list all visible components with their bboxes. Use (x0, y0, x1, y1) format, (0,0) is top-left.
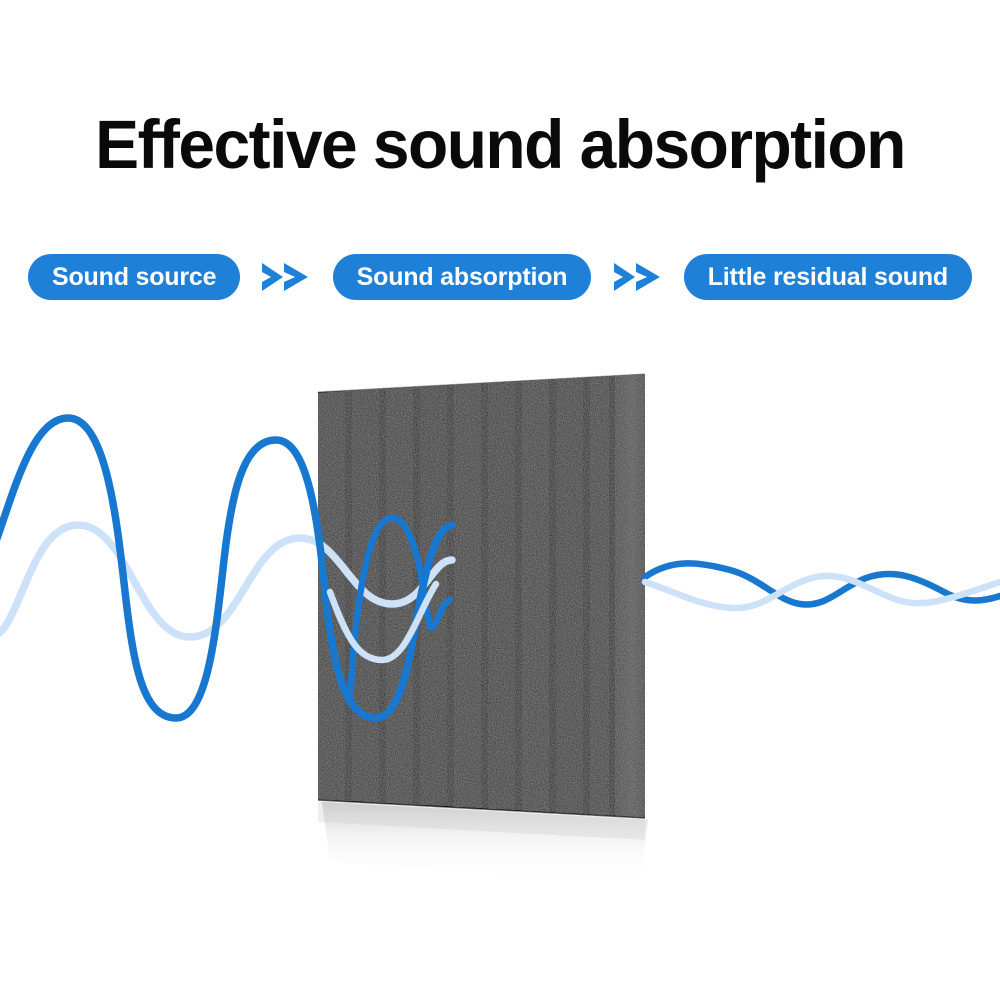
residual-wave-primary (645, 563, 1000, 604)
panel-bottom-edge (318, 800, 645, 818)
badge-sound-absorption[interactable]: Sound absorption (333, 254, 592, 300)
illustration-canvas: Effective sound absorption (0, 0, 1000, 1000)
badge-little-residual-sound[interactable]: Little residual sound (684, 254, 972, 300)
incoming-wave-secondary (0, 525, 452, 637)
double-chevron-right-icon (260, 260, 312, 294)
badge-sound-source[interactable]: Sound source (28, 254, 240, 300)
badge-sound-source-label: Sound source (52, 263, 216, 292)
panel-reflection (318, 800, 648, 884)
incoming-wave-primary (0, 418, 452, 718)
foam-ridges (318, 374, 645, 818)
process-flow: Sound source Sound absorption Little res… (28, 252, 972, 302)
page-title: Effective sound absorption (23, 108, 978, 182)
absorbed-wave-primary-tail (350, 518, 450, 700)
double-chevron-right-icon (612, 260, 664, 294)
badge-little-residual-sound-label: Little residual sound (708, 263, 948, 292)
panel-top-edge (318, 374, 645, 392)
badge-sound-absorption-label: Sound absorption (357, 263, 568, 292)
residual-wave-secondary (645, 576, 1000, 608)
absorbed-wave-secondary-tail (330, 584, 436, 660)
